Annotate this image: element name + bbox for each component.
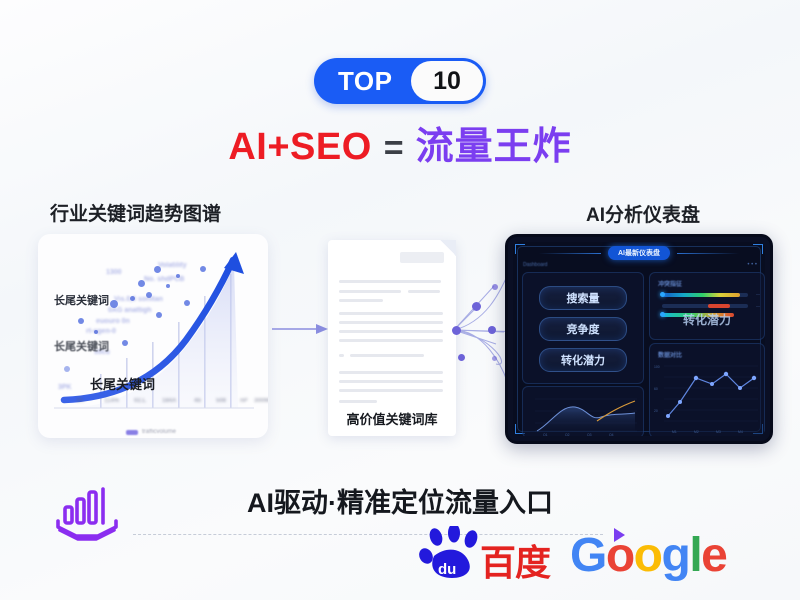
- baidu-du-text: du: [438, 561, 456, 578]
- google-letter-g2: g: [662, 529, 690, 582]
- metric-button-search-volume[interactable]: 搜索量: [539, 286, 627, 310]
- legend-swatch: [126, 430, 138, 435]
- metric-buttons-panel: 搜索量 竞争度 转化潜力: [522, 272, 644, 384]
- chart-legend: trafficvolume: [126, 429, 176, 435]
- dashboard-screen: AI最新仪表盘 Dashboard • • • 搜索量 竞争度 转化潜力: [513, 242, 765, 436]
- keyword-label-2: 长尾关键词: [54, 338, 109, 354]
- keyword-library-document: 高价值关键词库: [328, 240, 456, 436]
- svg-text:Q4: Q4: [609, 433, 614, 436]
- chart-x-axis: 4K114% 02.L184A 4b508 nP300MN: [54, 398, 260, 424]
- google-letter-e: e: [701, 529, 726, 582]
- svg-text:M4: M4: [738, 430, 743, 434]
- bottom-tagline: AI驱动·精准定位流量入口: [0, 481, 800, 520]
- google-letter-g1: G: [570, 529, 606, 582]
- document-caption: 高价值关键词库: [328, 409, 456, 428]
- svg-text:Q1: Q1: [543, 433, 548, 436]
- page-title: AI+SEO=流量王炸: [0, 128, 800, 166]
- svg-text:Q2: Q2: [565, 433, 570, 436]
- google-logo-text: Google: [570, 532, 726, 580]
- svg-text:Q3: Q3: [587, 433, 592, 436]
- dashboard-menu-icon[interactable]: • • •: [747, 262, 757, 268]
- svg-text:M1: M1: [672, 430, 677, 434]
- google-letter-o1: o: [606, 529, 634, 582]
- legend-label: trafficvolume: [142, 429, 176, 435]
- svg-text:20: 20: [654, 409, 658, 413]
- area-chart-panel: Q1Q2 Q3Q4: [522, 386, 644, 436]
- gauge-panel: 冲突指征 — — 转化潜力: [649, 272, 765, 340]
- dashboard-subtitle: Dashboard: [523, 262, 547, 268]
- flow-arrow-1: [272, 322, 330, 336]
- document-header-block: [400, 252, 444, 263]
- keyword-label-1: 长尾关键词: [54, 292, 109, 308]
- search-engine-logos: du 百度 Google: [418, 520, 748, 582]
- headline-ai-seo: AI+SEO: [228, 126, 371, 168]
- headline-result: 流量王炸: [416, 126, 572, 168]
- keyword-label-3: 长尾关键词: [90, 374, 155, 393]
- top-rank-badge: TOP 10: [314, 58, 486, 104]
- dashboard-title-pill: AI最新仪表盘: [608, 246, 670, 260]
- gauge-panel-title: 冲突指征: [658, 279, 682, 288]
- metric-button-conversion[interactable]: 转化潜力: [539, 348, 627, 372]
- metric-button-competition[interactable]: 竞争度: [539, 317, 627, 341]
- svg-text:60: 60: [654, 387, 658, 391]
- svg-text:M2: M2: [694, 430, 699, 434]
- google-letter-l: l: [689, 529, 701, 582]
- top-badge-label: TOP: [338, 68, 392, 94]
- svg-text:100: 100: [654, 365, 660, 369]
- area-chart-svg: Q1Q2 Q3Q4: [523, 387, 643, 436]
- right-section-caption: AI分析仪表盘: [586, 200, 700, 227]
- svg-text:M3: M3: [716, 430, 721, 434]
- keyword-trend-chart-card: Volatility No. shdPCB Vis.0,0 sonitan 0A…: [38, 234, 268, 438]
- top-badge-number: 10: [411, 61, 483, 101]
- dashboard-header: AI最新仪表盘: [513, 245, 765, 261]
- baidu-chinese-text: 百度: [480, 534, 550, 586]
- trend-chart: Volatility No. shdPCB Vis.0,0 sonitan 0A…: [38, 234, 268, 438]
- slide-canvas: TOP 10 AI+SEO=流量王炸 行业关键词趋势图谱 AI分析仪表盘: [0, 0, 800, 600]
- gauge-overlay-label: 转化潜力: [650, 311, 764, 328]
- headline-equals: =: [384, 129, 404, 167]
- google-letter-o2: o: [634, 529, 662, 582]
- left-section-caption: 行业关键词趋势图谱: [50, 199, 221, 226]
- ai-dashboard-card: AI最新仪表盘 Dashboard • • • 搜索量 竞争度 转化潜力: [505, 234, 773, 444]
- trend-panel: 数据对比 1006020: [649, 343, 765, 436]
- trend-panel-title: 数据对比: [658, 350, 682, 359]
